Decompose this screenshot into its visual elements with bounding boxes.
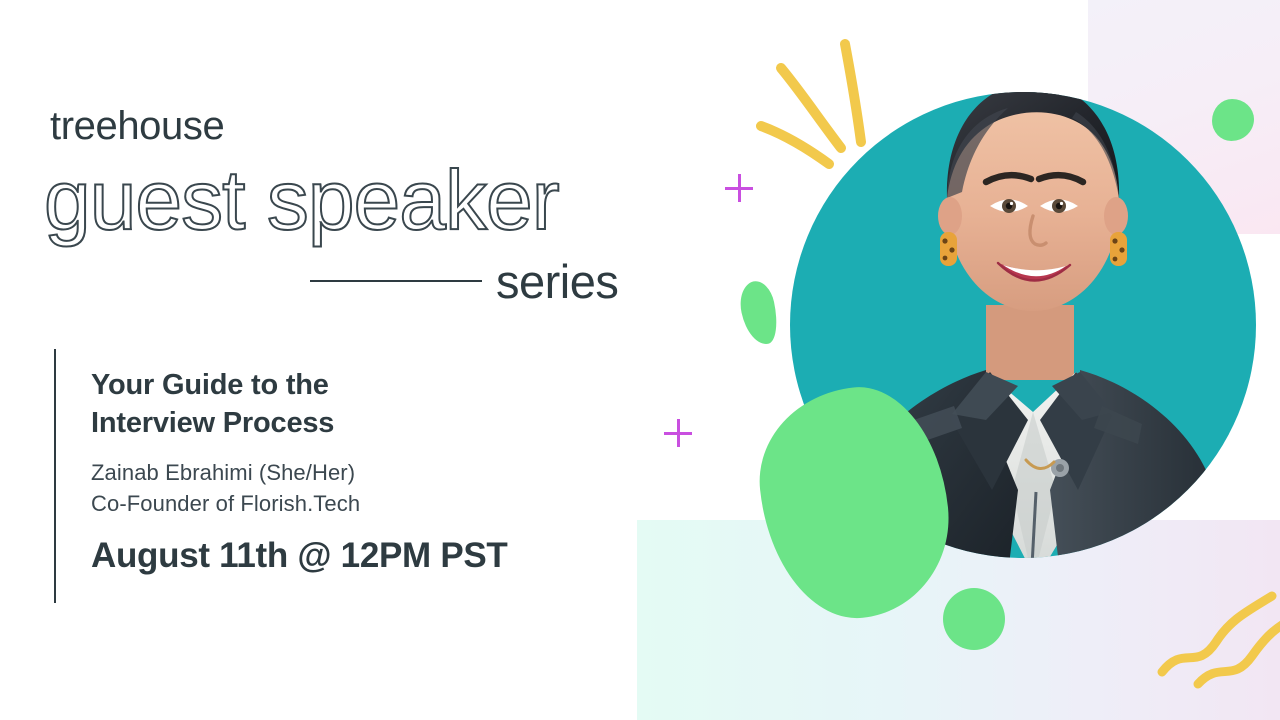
speaker-name: Zainab Ebrahimi (She/Her) [91,457,631,488]
speaker-role: Co-Founder of Florish.Tech [91,488,631,519]
detail-vertical-rule [54,349,56,603]
plus-mark-icon [725,174,753,202]
plus-mark-icon [664,419,692,447]
brand-wordmark: treehouse [50,106,224,146]
event-details: Your Guide to the Interview Process Zain… [91,366,631,576]
organic-blob-icon [736,278,783,348]
wavy-lines-icon [1150,580,1280,720]
series-divider-rule [310,280,482,282]
series-row: series [310,252,622,310]
promo-slide: treehouse guest speaker series Your Guid… [0,0,1280,720]
series-label: series [496,258,618,305]
sparkle-lines-icon [745,30,905,190]
talk-title: Your Guide to the Interview Process [91,366,631,443]
event-datetime: August 11th @ 12PM PST [91,537,631,576]
headline-guest-speaker: guest speaker [44,158,559,242]
organic-blob-icon [943,588,1005,650]
